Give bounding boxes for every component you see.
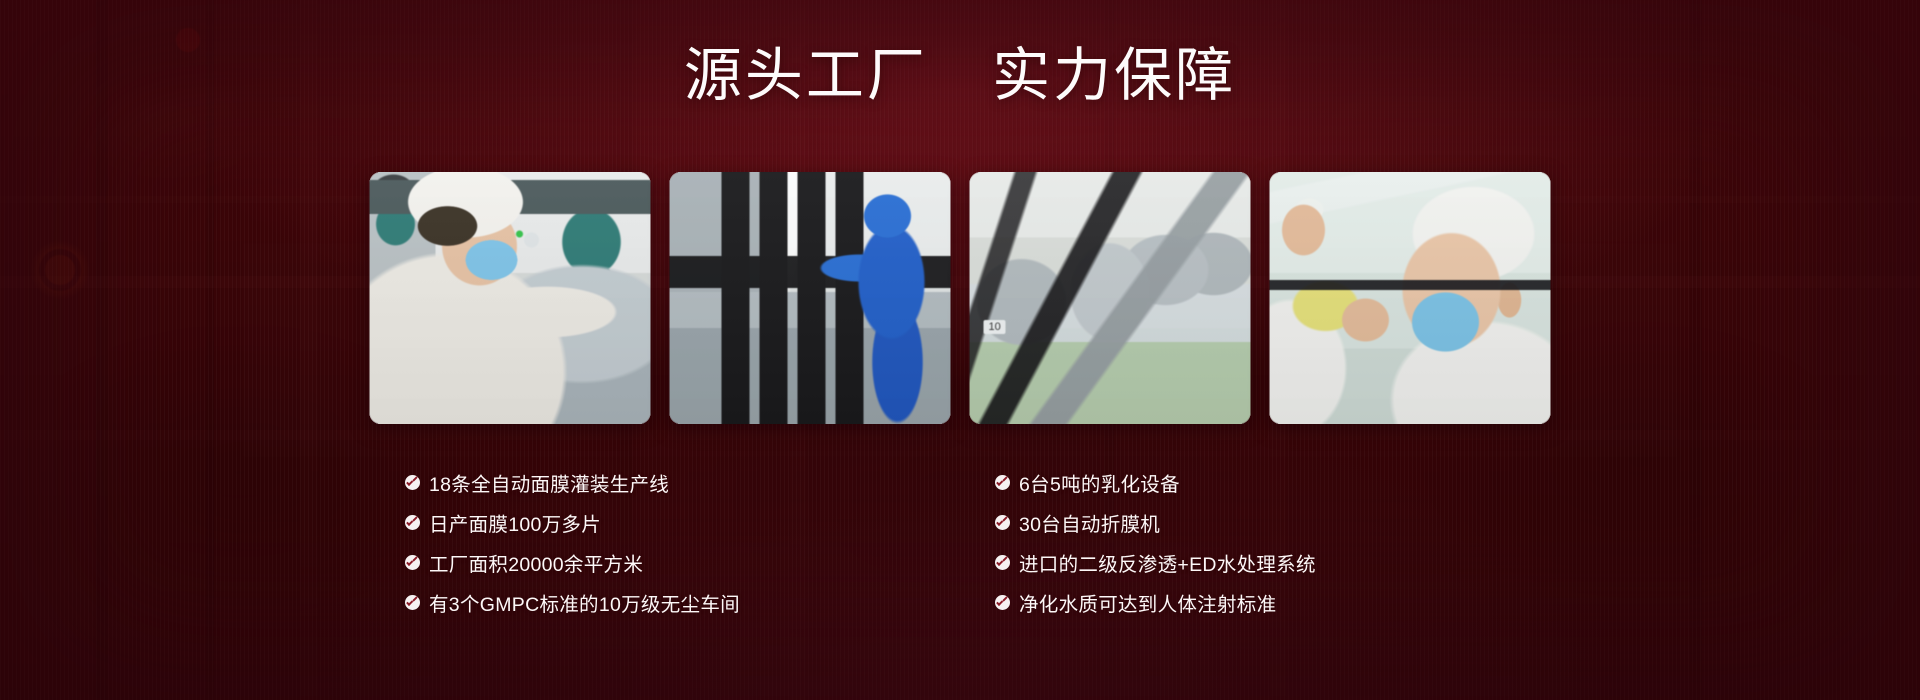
photo-2-overlay: [670, 172, 951, 424]
list-item-label: 18条全自动面膜灌装生产线: [429, 468, 669, 497]
list-item: 30台自动折膜机: [995, 502, 1485, 542]
list-item-label: 进口的二级反渗透+ED水处理系统: [1019, 548, 1316, 577]
check-circle-icon: [995, 595, 1010, 610]
list-item: 有3个GMPC标准的10万级无尘车间: [405, 582, 895, 622]
banner-title: 源头工厂 实力保障: [0, 46, 1920, 107]
photo-lab-technician-water-test[interactable]: [1270, 172, 1551, 424]
check-circle-icon: [405, 555, 420, 570]
photo-emulsifier-tank-operator[interactable]: [370, 172, 651, 424]
list-item-label: 有3个GMPC标准的10万级无尘车间: [429, 588, 740, 617]
check-circle-icon: [995, 515, 1010, 530]
photo-4-overlay: [1270, 172, 1551, 424]
photo-automatic-production-line[interactable]: 10: [970, 172, 1251, 424]
list-item-label: 工厂面积20000余平方米: [429, 548, 643, 577]
check-circle-icon: [405, 475, 420, 490]
check-circle-icon: [995, 475, 1010, 490]
factory-strength-banner: 源头工厂 实力保障 10 18条全自动面膜灌装生产线: [0, 0, 1920, 700]
list-item-label: 6台5吨的乳化设备: [1019, 468, 1180, 497]
feature-lists: 18条全自动面膜灌装生产线 日产面膜100万多片 工厂面积20000余平方米 有…: [405, 462, 1515, 622]
banner-title-sub: 实力保障: [992, 43, 1236, 108]
list-item-label: 30台自动折膜机: [1019, 508, 1160, 537]
feature-column-left: 18条全自动面膜灌装生产线 日产面膜100万多片 工厂面积20000余平方米 有…: [405, 462, 895, 622]
list-item-label: 日产面膜100万多片: [429, 508, 601, 537]
list-item: 净化水质可达到人体注射标准: [995, 582, 1485, 622]
photo-mask-filling-machine-operator[interactable]: [670, 172, 951, 424]
list-item: 工厂面积20000余平方米: [405, 542, 895, 582]
photo-1-overlay: [370, 172, 651, 424]
feature-column-right: 6台5吨的乳化设备 30台自动折膜机 进口的二级反渗透+ED水处理系统 净化水质…: [995, 462, 1485, 622]
list-item: 日产面膜100万多片: [405, 502, 895, 542]
list-item: 进口的二级反渗透+ED水处理系统: [995, 542, 1485, 582]
banner-title-main: 源头工厂: [684, 43, 928, 108]
check-circle-icon: [405, 515, 420, 530]
check-circle-icon: [995, 555, 1010, 570]
list-item-label: 净化水质可达到人体注射标准: [1019, 588, 1276, 617]
photo-3-overlay: [970, 172, 1251, 424]
check-circle-icon: [405, 595, 420, 610]
photo-gallery: 10: [370, 172, 1551, 424]
list-item: 18条全自动面膜灌装生产线: [405, 462, 895, 502]
list-item: 6台5吨的乳化设备: [995, 462, 1485, 502]
